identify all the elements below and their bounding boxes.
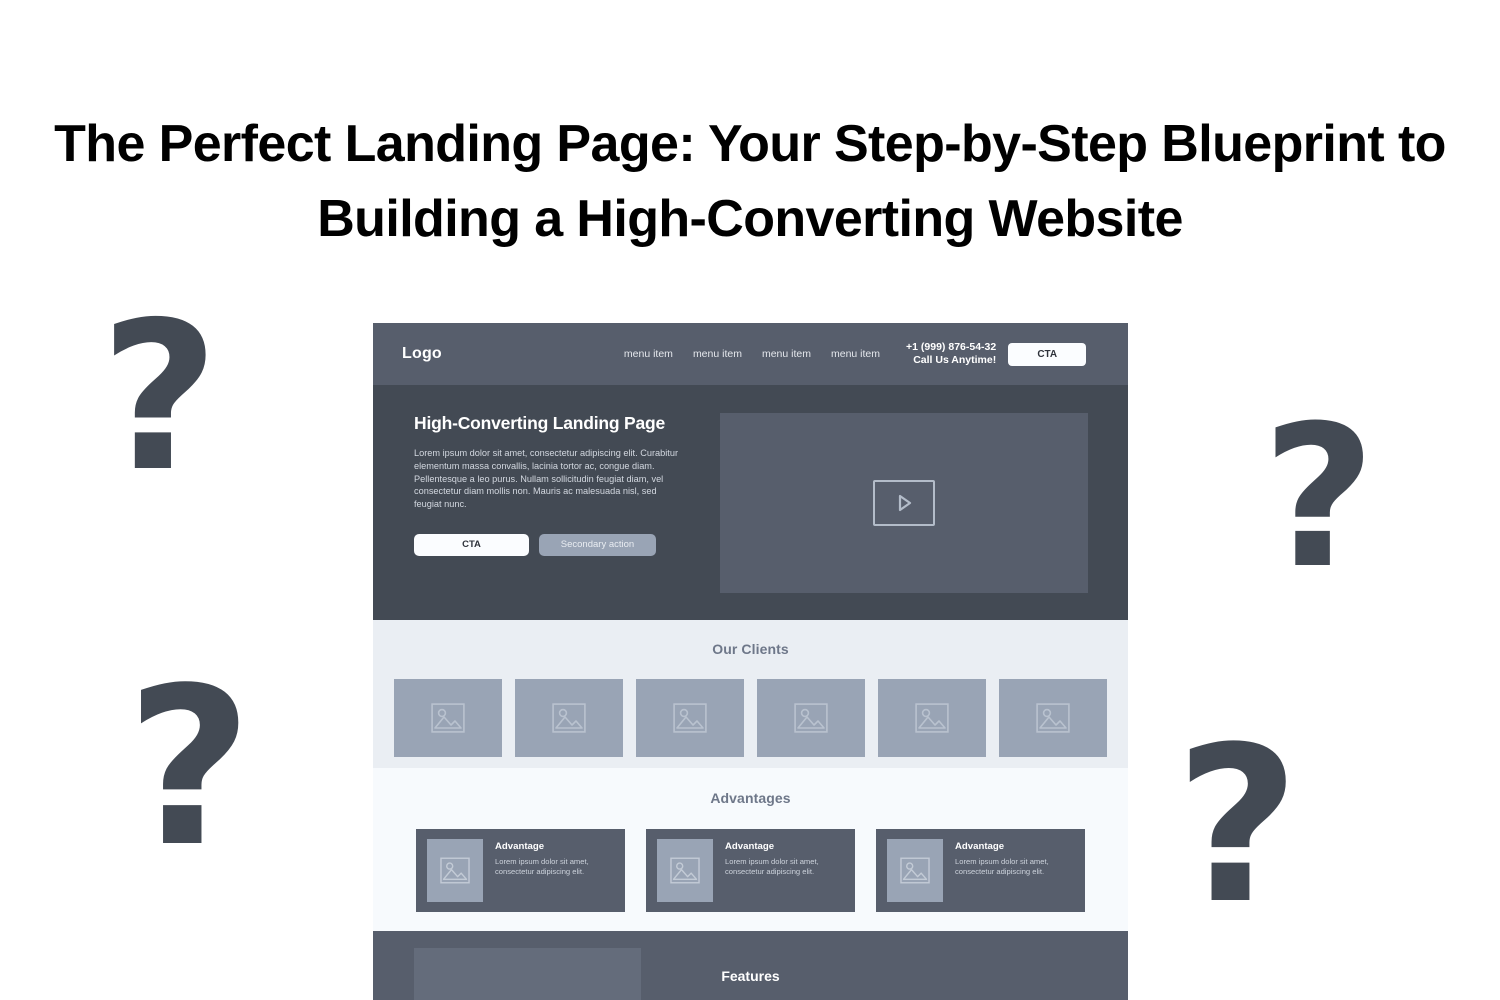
advantage-body: Lorem ipsum dolor sit amet, consectetur …: [955, 857, 1051, 878]
advantage-text: Advantage Lorem ipsum dolor sit amet, co…: [495, 839, 591, 902]
play-icon[interactable]: [873, 480, 935, 526]
nav-item[interactable]: menu item: [762, 348, 811, 360]
advantages-section: Advantages Advantage Lorem ipsum dolor s…: [373, 768, 1128, 931]
image-placeholder-icon: [673, 703, 707, 733]
wireframe-header: Logo menu item menu item menu item menu …: [373, 323, 1128, 385]
question-mark-icon: ?: [100, 296, 219, 501]
nav-item[interactable]: menu item: [831, 348, 880, 360]
advantages-section-title: Advantages: [373, 790, 1128, 806]
advantage-text: Advantage Lorem ipsum dolor sit amet, co…: [725, 839, 821, 902]
hero-button-group: CTA Secondary action: [414, 534, 713, 556]
advantages-card-row: Advantage Lorem ipsum dolor sit amet, co…: [373, 829, 1128, 912]
advantage-title: Advantage: [725, 841, 821, 852]
advantage-card[interactable]: Advantage Lorem ipsum dolor sit amet, co…: [646, 829, 855, 912]
page-title: The Perfect Landing Page: Your Step-by-S…: [0, 107, 1500, 257]
landing-page-wireframe: Logo menu item menu item menu item menu …: [373, 323, 1128, 1000]
advantage-card[interactable]: Advantage Lorem ipsum dolor sit amet, co…: [416, 829, 625, 912]
hero-body-text: Lorem ipsum dolor sit amet, consectetur …: [414, 447, 679, 511]
advantage-body: Lorem ipsum dolor sit amet, consectetur …: [495, 857, 591, 878]
nav-item[interactable]: menu item: [624, 348, 673, 360]
nav-item[interactable]: menu item: [693, 348, 742, 360]
advantage-card[interactable]: Advantage Lorem ipsum dolor sit amet, co…: [876, 829, 1085, 912]
image-placeholder-icon: [670, 857, 700, 884]
question-mark-icon: ?: [1262, 400, 1376, 596]
phone-subtitle: Call Us Anytime!: [906, 354, 996, 367]
advantage-thumbnail: [427, 839, 483, 902]
phone-number[interactable]: +1 (999) 876-54-32: [906, 341, 996, 354]
header-phone-block[interactable]: +1 (999) 876-54-32 Call Us Anytime!: [906, 341, 996, 367]
hero-secondary-button[interactable]: Secondary action: [539, 534, 656, 556]
hero-section: High-Converting Landing Page Lorem ipsum…: [373, 385, 1128, 620]
logo[interactable]: Logo: [402, 345, 442, 363]
question-mark-icon: ?: [126, 660, 252, 878]
advantage-body: Lorem ipsum dolor sit amet, consectetur …: [725, 857, 821, 878]
clients-logo-row: [373, 679, 1128, 757]
image-placeholder-icon: [1036, 703, 1070, 733]
hero-video-placeholder[interactable]: [720, 413, 1088, 593]
main-navigation: menu item menu item menu item menu item: [624, 348, 880, 360]
client-logo-placeholder[interactable]: [515, 679, 623, 757]
client-logo-placeholder[interactable]: [757, 679, 865, 757]
advantage-title: Advantage: [955, 841, 1051, 852]
advantage-thumbnail: [887, 839, 943, 902]
advantage-title: Advantage: [495, 841, 591, 852]
features-section: Features: [373, 931, 1128, 1000]
image-placeholder-icon: [440, 857, 470, 884]
image-placeholder-icon: [794, 703, 828, 733]
hero-title: High-Converting Landing Page: [414, 413, 713, 434]
hero-content: High-Converting Landing Page Lorem ipsum…: [414, 413, 713, 620]
image-placeholder-icon: [915, 703, 949, 733]
image-placeholder-icon: [900, 857, 930, 884]
image-placeholder-icon: [552, 703, 586, 733]
image-placeholder-icon: [431, 703, 465, 733]
clients-section-title: Our Clients: [373, 641, 1128, 657]
client-logo-placeholder[interactable]: [999, 679, 1107, 757]
question-mark-icon: ?: [1175, 718, 1300, 933]
clients-section: Our Clients: [373, 620, 1128, 768]
header-cta-button[interactable]: CTA: [1008, 343, 1086, 366]
client-logo-placeholder[interactable]: [394, 679, 502, 757]
features-section-title: Features: [373, 968, 1128, 984]
client-logo-placeholder[interactable]: [878, 679, 986, 757]
advantage-text: Advantage Lorem ipsum dolor sit amet, co…: [955, 839, 1051, 902]
hero-cta-button[interactable]: CTA: [414, 534, 529, 556]
client-logo-placeholder[interactable]: [636, 679, 744, 757]
advantage-thumbnail: [657, 839, 713, 902]
